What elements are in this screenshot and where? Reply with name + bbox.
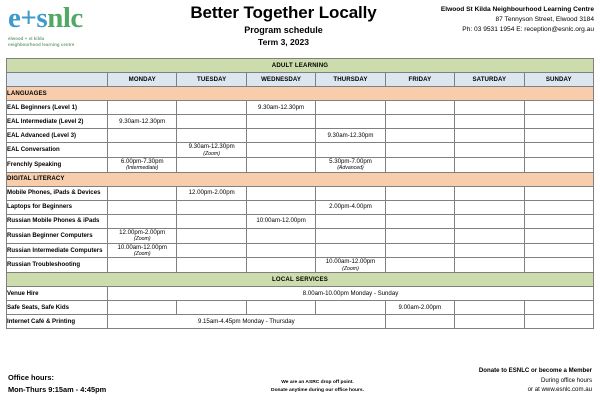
section-header-digital-literacy: DIGITAL LITERACY — [7, 172, 594, 186]
schedule-cell-tuesday — [177, 228, 246, 243]
donate-heading: Donate to ESNLC or become a Member — [427, 366, 592, 376]
schedule-table-wrapper: ADULT LEARNING MONDAY TUESDAY WEDNESDAY … — [0, 58, 600, 329]
schedule-cell-time: 10.00am-12.00pm — [326, 258, 375, 265]
schedule-cell-wednesday — [246, 143, 315, 158]
schedule-cell-monday — [108, 214, 177, 228]
schedule-cell-thursday — [316, 143, 385, 158]
table-row: Internet Café & Printing9.15am-4.45pm Mo… — [7, 315, 594, 329]
schedule-cell-monday — [108, 258, 177, 273]
schedule-cell-sunday — [524, 301, 593, 315]
organisation-address: 87 Tennyson Street, Elwood 3184 — [409, 15, 594, 25]
schedule-cell-monday: 6.00pm-7.30pm(Intermediate) — [108, 157, 177, 172]
schedule-cell-saturday — [455, 157, 524, 172]
logo: e+snlc elwood + st kilda neighbourhood l… — [8, 2, 158, 48]
row-label: Mobile Phones, iPads & Devices — [7, 186, 108, 200]
schedule-cell-saturday — [455, 258, 524, 273]
schedule-cell-tuesday — [177, 157, 246, 172]
table-row: Laptops for Beginners2.00pm-4.00pm — [7, 200, 594, 214]
row-label: Venue Hire — [7, 287, 108, 301]
schedule-cell-thursday: 9.30am-12.30pm — [316, 129, 385, 143]
schedule-cell-sunday — [524, 200, 593, 214]
row-label: EAL Advanced (Level 3) — [7, 129, 108, 143]
schedule-cell-monday — [108, 129, 177, 143]
schedule-cell-sunday — [524, 243, 593, 258]
schedule-cell-thursday — [316, 243, 385, 258]
schedule-cell-thursday — [316, 101, 385, 115]
schedule-cell-note: (Zoom) — [177, 151, 245, 157]
schedule-cell-monday — [108, 101, 177, 115]
schedule-cell-tuesday — [177, 214, 246, 228]
schedule-cell-time: 10:00am-12.00pm — [256, 217, 305, 224]
table-row: Venue Hire8.00am-10.00pm Monday - Sunday — [7, 287, 594, 301]
day-header-corner — [7, 73, 108, 87]
band-row-adult-learning: ADULT LEARNING — [7, 59, 594, 73]
organisation-name: Elwood St Kilda Neighbourhood Learning C… — [409, 5, 594, 15]
section-row-digital-literacy: DIGITAL LITERACY — [7, 172, 594, 186]
schedule-cell-sunday — [524, 214, 593, 228]
page-subtitle: Program schedule — [158, 24, 409, 37]
schedule-cell-sunday — [524, 186, 593, 200]
schedule-cell-friday — [385, 315, 454, 329]
schedule-cell-monday: 12.00pm-2.00pm(Zoom) — [108, 228, 177, 243]
schedule-table-body: ADULT LEARNING MONDAY TUESDAY WEDNESDAY … — [7, 59, 594, 329]
organisation-contact: Ph: 03 9531 1954 E: reception@esnlc.org.… — [409, 25, 594, 35]
day-header-monday: MONDAY — [108, 73, 177, 87]
table-row: Safe Seats, Safe Kids9.00am-2.00pm — [7, 301, 594, 315]
schedule-cell-friday — [385, 200, 454, 214]
schedule-cell-wednesday: 9.30am-12.30pm — [246, 101, 315, 115]
schedule-cell-tuesday: 12.00pm-2.00pm — [177, 186, 246, 200]
schedule-cell-tuesday — [177, 243, 246, 258]
schedule-cell-tuesday — [177, 301, 246, 315]
logo-wordmark-blue: e+s — [8, 2, 47, 34]
schedule-cell-thursday: 10.00am-12.00pm(Zoom) — [316, 258, 385, 273]
donate-block: Donate to ESNLC or become a Member Durin… — [427, 366, 592, 396]
section-header-languages: LANGUAGES — [7, 87, 594, 101]
row-label: EAL Intermediate (Level 2) — [7, 115, 108, 129]
schedule-cell-thursday — [316, 115, 385, 129]
schedule-cell-time: 6.00pm-7.30pm — [121, 158, 164, 165]
logo-tagline: elwood + st kilda neighbourhood learning… — [8, 36, 158, 48]
schedule-cell-friday — [385, 143, 454, 158]
section-row-languages: LANGUAGES — [7, 87, 594, 101]
page-header: e+snlc elwood + st kilda neighbourhood l… — [0, 0, 600, 58]
schedule-cell-monday — [108, 301, 177, 315]
schedule-cell-monday — [108, 186, 177, 200]
schedule-cell-time: 2.00pm-4.00pm — [329, 203, 372, 210]
table-row: EAL Advanced (Level 3)9.30am-12.30pm — [7, 129, 594, 143]
row-label: Frenchly Speaking — [7, 157, 108, 172]
schedule-cell-thursday — [316, 214, 385, 228]
day-header-row: MONDAY TUESDAY WEDNESDAY THURSDAY FRIDAY… — [7, 73, 594, 87]
day-header-friday: FRIDAY — [385, 73, 454, 87]
schedule-cell-time: 10.00am-12.00pm — [117, 244, 166, 251]
row-label: Russian Intermediate Computers — [7, 243, 108, 258]
schedule-cell-saturday — [455, 214, 524, 228]
schedule-cell-wednesday — [246, 228, 315, 243]
schedule-cell-wednesday — [246, 115, 315, 129]
schedule-cell-tuesday: 9.30am-12.30pm(Zoom) — [177, 143, 246, 158]
schedule-cell-wednesday — [246, 301, 315, 315]
schedule-table: ADULT LEARNING MONDAY TUESDAY WEDNESDAY … — [6, 58, 594, 329]
schedule-cell-tuesday — [177, 115, 246, 129]
schedule-cell-saturday — [455, 301, 524, 315]
schedule-cell-friday — [385, 214, 454, 228]
schedule-cell-monday — [108, 200, 177, 214]
schedule-cell-saturday — [455, 143, 524, 158]
schedule-cell-saturday — [455, 129, 524, 143]
title-block: Better Together Locally Program schedule… — [158, 2, 409, 48]
schedule-cell-monday: 10.00am-12.00pm(Zoom) — [108, 243, 177, 258]
schedule-cell-sunday — [524, 157, 593, 172]
schedule-cell-saturday — [455, 243, 524, 258]
schedule-cell-saturday — [455, 228, 524, 243]
schedule-cell-sunday — [524, 143, 593, 158]
asrc-note-block: We are an ASRC drop off point. Donate an… — [208, 379, 427, 396]
table-row: Mobile Phones, iPads & Devices12.00pm-2.… — [7, 186, 594, 200]
table-row: Russian Beginner Computers12.00pm-2.00pm… — [7, 228, 594, 243]
term-label: Term 3, 2023 — [158, 37, 409, 49]
page-footer: Office hours: Mon-Thurs 9:15am - 4:45pm … — [0, 362, 600, 396]
schedule-cell-saturday — [455, 115, 524, 129]
schedule-cell-wednesday — [246, 157, 315, 172]
row-label: Russian Troubleshooting — [7, 258, 108, 273]
schedule-cell-wednesday — [246, 258, 315, 273]
table-row: EAL Intermediate (Level 2)9.30am-12.30pm — [7, 115, 594, 129]
table-row: Russian Troubleshooting10.00am-12.00pm(Z… — [7, 258, 594, 273]
table-row: Russian Mobile Phones & iPads10:00am-12.… — [7, 214, 594, 228]
logo-tagline-line2: neighbourhood learning centre — [8, 42, 158, 48]
schedule-cell-saturday — [455, 101, 524, 115]
row-label: EAL Beginners (Level 1) — [7, 101, 108, 115]
donate-line3: or at www.esnlc.com.au — [427, 385, 592, 395]
schedule-cell-saturday — [455, 186, 524, 200]
schedule-cell-sunday — [524, 129, 593, 143]
schedule-cell-note: (Zoom) — [108, 251, 176, 257]
schedule-cell-saturday — [455, 200, 524, 214]
schedule-cell-friday — [385, 243, 454, 258]
schedule-cell-friday: 9.00am-2.00pm — [385, 301, 454, 315]
schedule-cell-time: 9.00am-2.00pm — [399, 304, 442, 311]
schedule-cell-time: 9.30am-12.30pm — [327, 132, 373, 139]
schedule-cell-wednesday — [246, 129, 315, 143]
schedule-cell-sunday — [524, 315, 593, 329]
schedule-cell-time: 9.30am-12.30pm — [119, 118, 165, 125]
schedule-cell-tuesday — [177, 258, 246, 273]
band-row-local-services: LOCAL SERVICES — [7, 273, 594, 287]
day-header-thursday: THURSDAY — [316, 73, 385, 87]
page-title: Better Together Locally — [158, 3, 409, 23]
asrc-note-line2: Donate anytime during our office hours. — [208, 387, 427, 395]
schedule-cell-sunday — [524, 228, 593, 243]
table-row: Russian Intermediate Computers10.00am-12… — [7, 243, 594, 258]
schedule-cell-sunday — [524, 258, 593, 273]
band-local-services: LOCAL SERVICES — [7, 273, 594, 287]
schedule-cell-tuesday — [177, 101, 246, 115]
schedule-cell-friday — [385, 228, 454, 243]
row-label: Russian Beginner Computers — [7, 228, 108, 243]
contact-block: Elwood St Kilda Neighbourhood Learning C… — [409, 2, 594, 35]
schedule-cell-time: 9.30am-12.30pm — [189, 143, 235, 150]
schedule-cell-sunday — [524, 115, 593, 129]
schedule-cell-friday — [385, 101, 454, 115]
schedule-cell-wednesday — [246, 243, 315, 258]
office-hours-label: Office hours: — [8, 372, 208, 384]
schedule-cell-friday — [385, 258, 454, 273]
schedule-cell-friday — [385, 186, 454, 200]
schedule-cell-all-week: 8.00am-10.00pm Monday - Sunday — [108, 287, 594, 301]
office-hours-block: Office hours: Mon-Thurs 9:15am - 4:45pm — [8, 372, 208, 396]
schedule-cell-time: 12.00pm-2.00pm — [119, 229, 165, 236]
row-label: Safe Seats, Safe Kids — [7, 301, 108, 315]
row-label: Laptops for Beginners — [7, 200, 108, 214]
table-row: EAL Beginners (Level 1)9.30am-12.30pm — [7, 101, 594, 115]
schedule-cell-note: (Intermediate) — [108, 165, 176, 171]
schedule-cell-wednesday: 10:00am-12.00pm — [246, 214, 315, 228]
schedule-cell-monday: 9.30am-12.30pm — [108, 115, 177, 129]
schedule-cell-saturday — [455, 315, 524, 329]
schedule-cell-wednesday — [246, 200, 315, 214]
logo-wordmark: e+snlc — [8, 4, 158, 33]
schedule-cell-tuesday — [177, 200, 246, 214]
schedule-cell-friday — [385, 115, 454, 129]
office-hours-value: Mon-Thurs 9:15am - 4:45pm — [8, 384, 208, 396]
row-label: EAL Conversation — [7, 143, 108, 158]
schedule-cell-monday — [108, 143, 177, 158]
schedule-cell-friday — [385, 129, 454, 143]
schedule-cell-mon-thu: 9.15am-4.45pm Monday - Thursday — [108, 315, 386, 329]
schedule-cell-wednesday — [246, 186, 315, 200]
day-header-wednesday: WEDNESDAY — [246, 73, 315, 87]
schedule-cell-time: 9.30am-12.30pm — [258, 104, 304, 111]
row-label: Internet Café & Printing — [7, 315, 108, 329]
day-header-tuesday: TUESDAY — [177, 73, 246, 87]
schedule-cell-time: 12.00pm-2.00pm — [189, 189, 235, 196]
schedule-cell-thursday: 5.30pm-7.00pm(Advanced) — [316, 157, 385, 172]
table-row: Frenchly Speaking6.00pm-7.30pm(Intermedi… — [7, 157, 594, 172]
schedule-cell-thursday — [316, 301, 385, 315]
donate-line2: During office hours — [427, 376, 592, 386]
schedule-cell-note: (Zoom) — [316, 266, 384, 272]
schedule-cell-thursday — [316, 186, 385, 200]
schedule-cell-friday — [385, 157, 454, 172]
schedule-cell-tuesday — [177, 129, 246, 143]
asrc-note-line1: We are an ASRC drop off point. — [208, 379, 427, 387]
row-label: Russian Mobile Phones & iPads — [7, 214, 108, 228]
logo-wordmark-green: nlc — [47, 2, 83, 34]
schedule-cell-note: (Zoom) — [108, 236, 176, 242]
day-header-saturday: SATURDAY — [455, 73, 524, 87]
schedule-cell-note: (Advanced) — [316, 165, 384, 171]
table-row: EAL Conversation9.30am-12.30pm(Zoom) — [7, 143, 594, 158]
schedule-cell-time: 5.30pm-7.00pm — [329, 158, 372, 165]
day-header-sunday: SUNDAY — [524, 73, 593, 87]
schedule-cell-sunday — [524, 101, 593, 115]
band-adult-learning: ADULT LEARNING — [7, 59, 594, 73]
schedule-cell-thursday: 2.00pm-4.00pm — [316, 200, 385, 214]
schedule-cell-thursday — [316, 228, 385, 243]
